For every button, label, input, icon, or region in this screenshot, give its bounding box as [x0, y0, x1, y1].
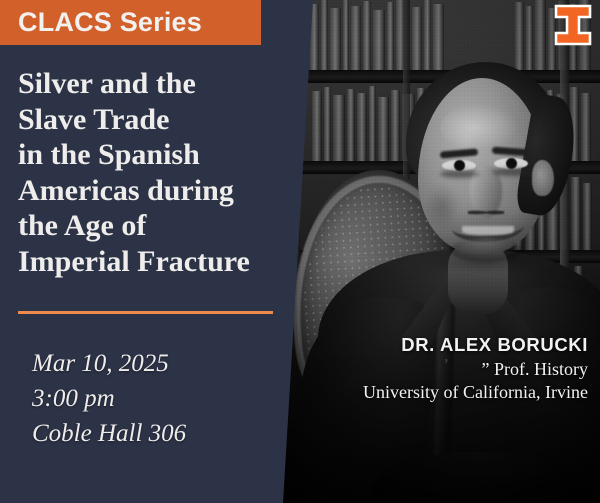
page-title: Silver and the Slave Trade in the Spanis… [18, 66, 304, 279]
orange-divider [18, 311, 273, 314]
series-banner-label: CLACS Series [0, 7, 202, 38]
speaker-name: DR. ALEX BORUCKI [168, 333, 588, 357]
title-line-6: Imperial Fracture [18, 244, 304, 280]
speaker-role: ” Prof. History [168, 357, 588, 381]
block-i-icon [554, 4, 592, 46]
title-line-3: in the Spanish [18, 137, 304, 173]
title-line-2: Slave Trade [18, 102, 304, 138]
university-of-illinois-block-i-logo [554, 4, 592, 46]
faint-glyph-artifact: ’ [443, 355, 448, 375]
speaker-block: DR. ALEX BORUCKI ” Prof. History Univers… [168, 333, 588, 403]
title-line-5: the Age of [18, 208, 304, 244]
series-banner: CLACS Series [0, 0, 261, 45]
event-poster: CLACS Series Silver and the Slave Trade … [0, 0, 600, 503]
title-line-4: Americas during [18, 173, 304, 209]
event-venue: Coble Hall 306 [32, 416, 282, 451]
speaker-affiliation: University of California, Irvine [168, 381, 588, 403]
title-line-1: Silver and the [18, 66, 304, 102]
